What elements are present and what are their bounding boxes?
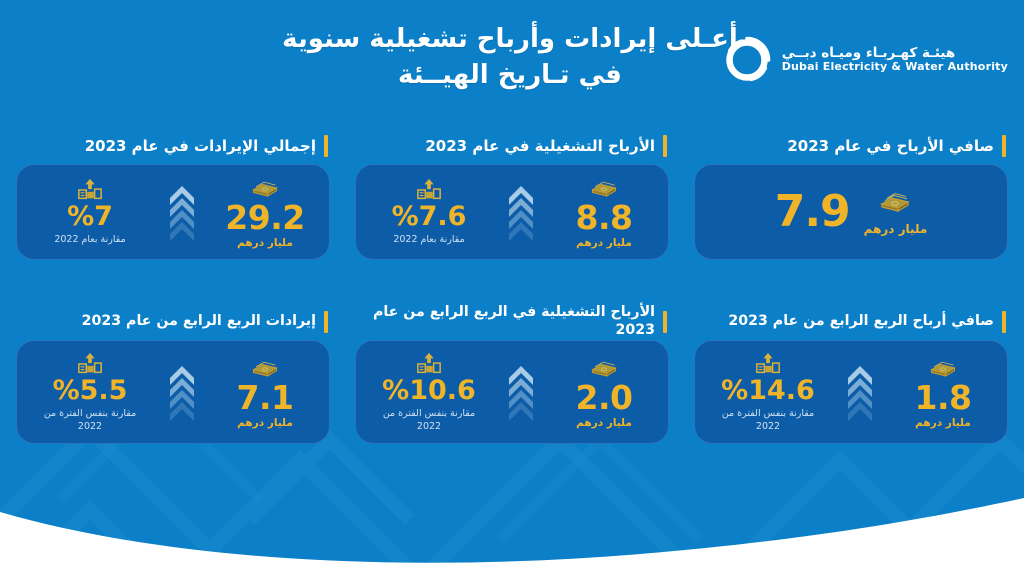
stat-card-net-profit-annual: مليار درهم 7.9: [694, 164, 1008, 260]
banknotes-icon: [928, 356, 958, 380]
accent-bar-icon: [663, 311, 667, 333]
percent-caption: مقارنة بعام 2022: [54, 234, 125, 246]
percent-caption: مقارنة بنفس الفترة من 2022: [720, 408, 816, 433]
stats-row-annual: صافي الأرباح في عام 2023: [0, 128, 1024, 260]
value-number: 1.8: [915, 381, 972, 414]
value-unit: مليار درهم: [237, 237, 293, 249]
chevrons-up-icon: [159, 181, 205, 243]
percent-caption: مقارنة بنفس الفترة من 2022: [381, 408, 477, 433]
chevrons-up-icon: [498, 361, 544, 423]
banknotes-icon: [250, 176, 280, 200]
value-unit: مليار درهم: [237, 417, 293, 429]
growth-chart-icon: [414, 177, 444, 203]
chevrons-up-icon: [837, 361, 883, 423]
value-number: 29.2: [225, 201, 304, 234]
card-title-label: صافي أرباح الربع الرابع من عام 2023: [728, 313, 994, 331]
growth-chart-icon: [414, 351, 444, 377]
accent-bar-icon: [1002, 311, 1006, 333]
value-number: 8.8: [576, 201, 633, 234]
value-unit: مليار درهم: [576, 417, 632, 429]
growth-chart-icon: [753, 351, 783, 377]
banknotes-icon: [589, 356, 619, 380]
logo-text: هيئـة كهـربـاء وميـاه دبــي Dubai Electr…: [782, 46, 1008, 74]
bottom-wave-decoration: [0, 446, 1024, 576]
card-title-label: إيرادات الربع الرابع من عام 2023: [82, 313, 316, 331]
percent-group: %5.5 مقارنة بنفس الفترة من 2022: [35, 351, 145, 433]
accent-bar-icon: [324, 135, 328, 157]
card-title-total-revenue-annual: إجمالي الإيرادات في عام 2023: [16, 128, 330, 164]
card-title-revenue-q4: إيرادات الربع الرابع من عام 2023: [16, 304, 330, 340]
value-group: 8.8 مليار درهم: [558, 176, 650, 249]
card-title-label: الأرباح التشغيلية في الربع الرابع من عام…: [355, 304, 655, 340]
stat-col-revenue-q4: إيرادات الربع الرابع من عام 2023: [16, 304, 330, 444]
percent-number: %5.5: [53, 377, 128, 404]
card-title-label: صافي الأرباح في عام 2023: [787, 137, 994, 156]
chevrons-up-icon: [159, 361, 205, 423]
chevrons-up-icon: [498, 181, 544, 243]
logo-arabic-name: هيئـة كهـربـاء وميـاه دبــي: [782, 46, 956, 62]
card-title-operating-profit-q4: الأرباح التشغيلية في الربع الرابع من عام…: [355, 304, 669, 340]
growth-chart-icon: [75, 351, 105, 377]
percent-group: %14.6 مقارنة بنفس الفترة من 2022: [713, 351, 823, 433]
growth-chart-icon: [75, 177, 105, 203]
dewa-logo: هيئـة كهـربـاء وميـاه دبــي Dubai Electr…: [721, 34, 1008, 86]
card-title-operating-profit-annual: الأرباح التشغيلية في عام 2023: [355, 128, 669, 164]
stat-col-operating-profit-q4: الأرباح التشغيلية في الربع الرابع من عام…: [355, 304, 669, 444]
value-group: 29.2 مليار درهم: [219, 176, 311, 249]
stats-row-q4: صافي أرباح الربع الرابع من عام 2023: [0, 304, 1024, 444]
value-unit: مليار درهم: [915, 417, 971, 429]
percent-number: %7.6: [392, 203, 467, 230]
logo-english-name: Dubai Electricity & Water Authority: [782, 61, 1008, 74]
card-title-label: إجمالي الإيرادات في عام 2023: [85, 137, 316, 156]
header: أعـلى إيرادات وأرباح تشغيلية سنوية في تـ…: [0, 0, 1024, 120]
stat-card-operating-profit-annual: 8.8 مليار درهم: [355, 164, 669, 260]
stat-card-total-revenue-annual: 29.2 مليار درهم: [16, 164, 330, 260]
value-unit: مليار درهم: [576, 237, 632, 249]
stat-col-total-revenue-annual: إجمالي الإيرادات في عام 2023: [16, 128, 330, 260]
value-unit: مليار درهم: [864, 222, 928, 236]
banknotes-icon: [250, 356, 280, 380]
percent-number: %7: [67, 203, 113, 230]
value-group: 2.0 مليار درهم: [558, 356, 650, 429]
percent-caption: مقارنة بعام 2022: [393, 234, 464, 246]
percent-group: %7.6 مقارنة بعام 2022: [374, 177, 484, 246]
accent-bar-icon: [663, 135, 667, 157]
stat-col-net-profit-q4: صافي أرباح الربع الرابع من عام 2023: [694, 304, 1008, 444]
page-title-line-2: في تـاريخ الهيــئة: [250, 58, 770, 94]
percent-number: %14.6: [721, 377, 815, 404]
stat-card-operating-profit-q4: 2.0 مليار درهم: [355, 340, 669, 444]
accent-bar-icon: [1002, 135, 1006, 157]
banknotes-icon: [589, 176, 619, 200]
accent-bar-icon: [324, 311, 328, 333]
page-title-line-1: أعـلى إيرادات وأرباح تشغيلية سنوية: [250, 22, 770, 58]
stat-card-revenue-q4: 7.1 مليار درهم: [16, 340, 330, 444]
percent-number: %10.6: [382, 377, 476, 404]
stat-card-net-profit-q4: 1.8 مليار درهم: [694, 340, 1008, 444]
percent-group: %7 مقارنة بعام 2022: [35, 177, 145, 246]
card-title-label: الأرباح التشغيلية في عام 2023: [425, 137, 655, 156]
percent-caption: مقارنة بنفس الفترة من 2022: [42, 408, 138, 433]
banknotes-icon: [878, 188, 912, 218]
stat-col-net-profit-annual: صافي الأرباح في عام 2023: [694, 128, 1008, 260]
dewa-circle-logo-icon: [721, 34, 773, 86]
value-number: 7.1: [237, 381, 294, 414]
infographic-stage: أعـلى إيرادات وأرباح تشغيلية سنوية في تـ…: [0, 0, 1024, 576]
value-number: 7.9: [775, 190, 850, 234]
card-title-net-profit-annual: صافي الأرباح في عام 2023: [694, 128, 1008, 164]
value-group: مليار درهم: [864, 188, 928, 236]
value-group: 7.1 مليار درهم: [219, 356, 311, 429]
value-number: 2.0: [576, 381, 633, 414]
percent-group: %10.6 مقارنة بنفس الفترة من 2022: [374, 351, 484, 433]
value-group: 1.8 مليار درهم: [897, 356, 989, 429]
page-title: أعـلى إيرادات وأرباح تشغيلية سنوية في تـ…: [250, 22, 770, 94]
stat-col-operating-profit-annual: الأرباح التشغيلية في عام 2023: [355, 128, 669, 260]
card-title-net-profit-q4: صافي أرباح الربع الرابع من عام 2023: [694, 304, 1008, 340]
stats-grid: صافي الأرباح في عام 2023: [0, 128, 1024, 444]
